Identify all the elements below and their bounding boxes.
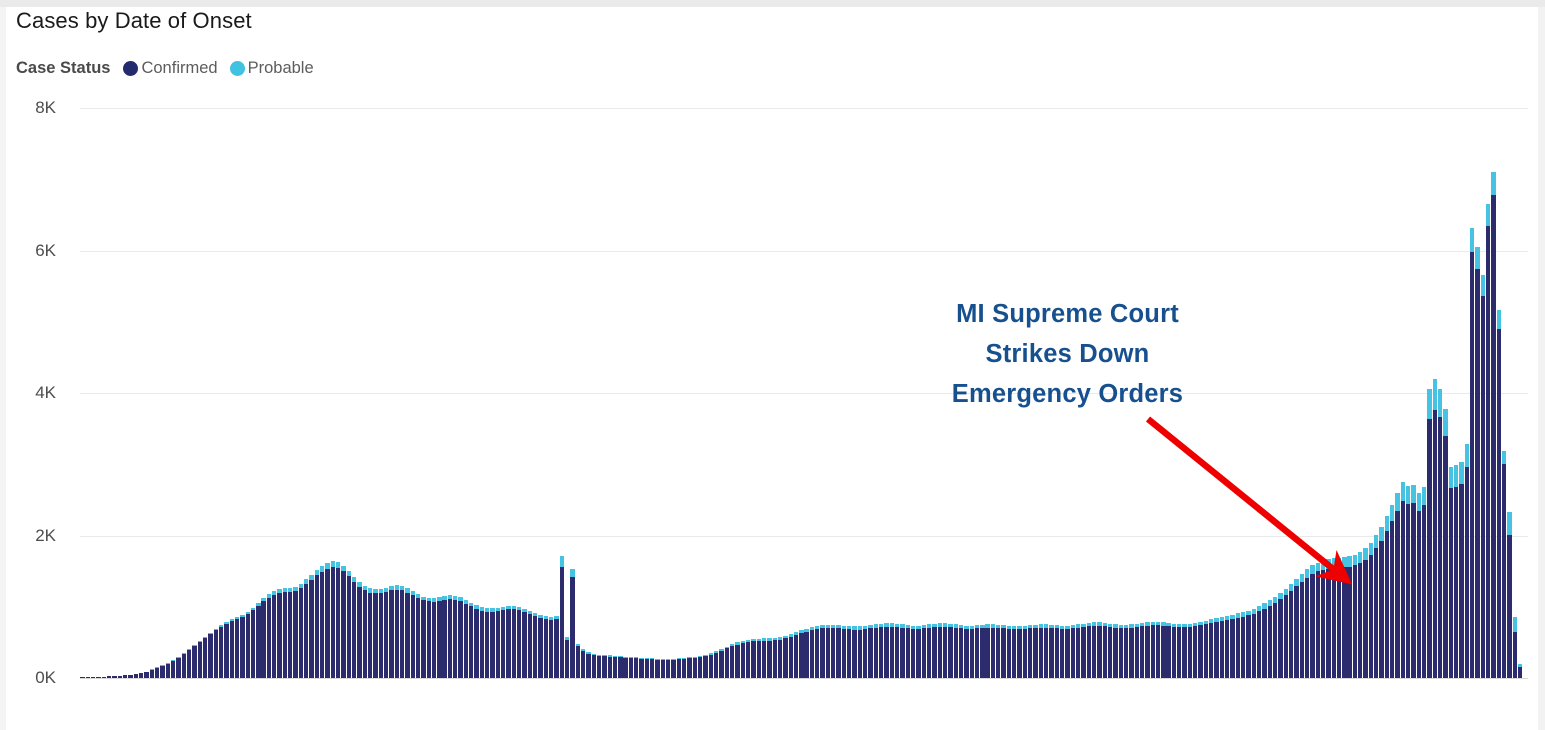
- bar[interactable]: [751, 639, 755, 678]
- bar-segment-probable: [767, 638, 771, 640]
- bar[interactable]: [639, 658, 643, 678]
- bar[interactable]: [1321, 560, 1325, 678]
- bar[interactable]: [1507, 512, 1511, 678]
- bar[interactable]: [251, 608, 255, 678]
- bar[interactable]: [1039, 624, 1043, 678]
- bar[interactable]: [741, 641, 745, 678]
- bar[interactable]: [1017, 626, 1021, 678]
- bar[interactable]: [1310, 565, 1314, 678]
- bar-segment-confirmed: [496, 611, 500, 678]
- bar[interactable]: [490, 608, 494, 678]
- bar[interactable]: [1342, 557, 1346, 678]
- bar[interactable]: [1007, 626, 1011, 678]
- bar[interactable]: [650, 658, 654, 678]
- bar[interactable]: [560, 556, 564, 678]
- bar[interactable]: [1257, 606, 1261, 678]
- bar[interactable]: [980, 625, 984, 678]
- bar[interactable]: [1012, 626, 1016, 678]
- bar[interactable]: [155, 668, 159, 678]
- bar[interactable]: [623, 657, 627, 678]
- bar[interactable]: [975, 625, 979, 678]
- bar[interactable]: [309, 575, 313, 678]
- bar[interactable]: [1481, 275, 1485, 678]
- bar[interactable]: [1459, 462, 1463, 678]
- bar[interactable]: [1417, 493, 1421, 678]
- bar[interactable]: [773, 638, 777, 678]
- bar[interactable]: [1156, 622, 1160, 678]
- bar[interactable]: [1214, 618, 1218, 678]
- bar[interactable]: [1278, 593, 1282, 678]
- bar[interactable]: [613, 656, 617, 678]
- bar[interactable]: [592, 654, 596, 678]
- bar[interactable]: [453, 596, 457, 678]
- bar[interactable]: [783, 636, 787, 678]
- bar[interactable]: [970, 626, 974, 679]
- bar[interactable]: [411, 591, 415, 678]
- bar[interactable]: [799, 630, 803, 678]
- bar[interactable]: [448, 595, 452, 678]
- bar[interactable]: [1119, 625, 1123, 678]
- bar[interactable]: [224, 622, 228, 678]
- bar[interactable]: [1097, 622, 1101, 678]
- bar[interactable]: [735, 642, 739, 678]
- bar[interactable]: [1353, 555, 1357, 678]
- bar[interactable]: [852, 626, 856, 678]
- bar-segment-confirmed: [1358, 563, 1362, 678]
- bar[interactable]: [1193, 623, 1197, 678]
- bar[interactable]: [198, 641, 202, 678]
- bar[interactable]: [256, 603, 260, 678]
- bar[interactable]: [112, 676, 116, 678]
- bar-segment-probable: [341, 566, 345, 571]
- bar[interactable]: [1363, 548, 1367, 678]
- bar[interactable]: [1443, 409, 1447, 678]
- bar[interactable]: [1140, 623, 1144, 678]
- bar[interactable]: [608, 655, 612, 678]
- bar[interactable]: [1332, 558, 1336, 678]
- bar[interactable]: [187, 649, 191, 678]
- bar[interactable]: [836, 625, 840, 678]
- bar[interactable]: [900, 624, 904, 678]
- bar[interactable]: [283, 588, 287, 678]
- bar[interactable]: [368, 588, 372, 678]
- bar[interactable]: [1113, 624, 1117, 678]
- bar[interactable]: [182, 653, 186, 678]
- bar[interactable]: [884, 623, 888, 678]
- bar[interactable]: [655, 659, 659, 678]
- y-axis-tick-label: 8K: [0, 98, 56, 118]
- bar-segment-probable: [432, 598, 436, 602]
- bar[interactable]: [1103, 623, 1107, 678]
- bar[interactable]: [1475, 247, 1479, 678]
- bar[interactable]: [1369, 543, 1373, 678]
- bar[interactable]: [565, 637, 569, 678]
- bar[interactable]: [1151, 622, 1155, 678]
- bar[interactable]: [757, 639, 761, 678]
- bar[interactable]: [932, 624, 936, 678]
- bar[interactable]: [1236, 613, 1240, 678]
- bar[interactable]: [570, 569, 574, 678]
- bar-segment-probable: [1182, 624, 1186, 627]
- bar[interactable]: [496, 608, 500, 678]
- bar[interactable]: [1033, 625, 1037, 678]
- bar[interactable]: [1230, 615, 1234, 678]
- bar[interactable]: [1049, 625, 1053, 678]
- bar[interactable]: [1411, 485, 1415, 679]
- bar[interactable]: [384, 588, 388, 678]
- bar[interactable]: [890, 623, 894, 678]
- bar[interactable]: [938, 623, 942, 678]
- bar[interactable]: [379, 589, 383, 678]
- bar[interactable]: [1161, 622, 1165, 678]
- bar[interactable]: [964, 626, 968, 679]
- bar[interactable]: [1172, 624, 1176, 678]
- bar[interactable]: [469, 603, 473, 678]
- bar[interactable]: [671, 659, 675, 678]
- bar[interactable]: [1087, 623, 1091, 678]
- bar[interactable]: [517, 607, 521, 678]
- bar[interactable]: [634, 657, 638, 678]
- bar[interactable]: [767, 638, 771, 678]
- bar[interactable]: [1092, 622, 1096, 678]
- bar[interactable]: [1044, 624, 1048, 678]
- bar[interactable]: [693, 656, 697, 678]
- bar[interactable]: [1273, 597, 1277, 678]
- bar[interactable]: [288, 588, 292, 678]
- bar[interactable]: [432, 598, 436, 678]
- bar[interactable]: [102, 677, 106, 678]
- bar[interactable]: [416, 594, 420, 678]
- bar[interactable]: [1023, 626, 1027, 679]
- bar[interactable]: [581, 649, 585, 678]
- bar[interactable]: [1135, 624, 1139, 678]
- bar[interactable]: [405, 588, 409, 678]
- bar[interactable]: [1374, 535, 1378, 678]
- bar-segment-probable: [847, 626, 851, 629]
- bar[interactable]: [128, 675, 132, 678]
- bar[interactable]: [602, 655, 606, 678]
- bar-segment-probable: [560, 556, 564, 567]
- bar[interactable]: [480, 607, 484, 678]
- bar-segment-confirmed: [517, 610, 521, 678]
- bar[interactable]: [315, 570, 319, 678]
- bar[interactable]: [831, 625, 835, 678]
- bar[interactable]: [730, 644, 734, 678]
- bar-segment-probable: [171, 660, 175, 661]
- bar[interactable]: [1129, 624, 1133, 678]
- bar[interactable]: [325, 563, 329, 678]
- bar[interactable]: [1209, 619, 1213, 678]
- bar[interactable]: [533, 613, 537, 678]
- bar[interactable]: [357, 582, 361, 678]
- bar[interactable]: [943, 623, 947, 678]
- bar[interactable]: [789, 634, 793, 678]
- bar[interactable]: [1108, 624, 1112, 678]
- bar[interactable]: [810, 627, 814, 678]
- bar[interactable]: [1262, 603, 1266, 678]
- bar[interactable]: [320, 566, 324, 678]
- bar[interactable]: [868, 625, 872, 678]
- bar-segment-probable: [1363, 548, 1367, 559]
- bar-segment-probable: [214, 629, 218, 631]
- bar[interactable]: [1241, 612, 1245, 678]
- bar[interactable]: [911, 626, 915, 679]
- bar[interactable]: [1246, 611, 1250, 678]
- bar[interactable]: [1284, 589, 1288, 678]
- bar[interactable]: [1060, 626, 1064, 678]
- bar[interactable]: [677, 658, 681, 678]
- bar[interactable]: [293, 587, 297, 678]
- bar[interactable]: [991, 624, 995, 678]
- bar[interactable]: [363, 586, 367, 678]
- bar[interactable]: [166, 663, 170, 678]
- bar[interactable]: [107, 676, 111, 678]
- bar[interactable]: [618, 656, 622, 678]
- bar[interactable]: [996, 625, 1000, 678]
- bar[interactable]: [123, 675, 127, 678]
- bar[interactable]: [645, 658, 649, 678]
- bar[interactable]: [1518, 664, 1522, 678]
- bar[interactable]: [1385, 516, 1389, 678]
- bar[interactable]: [1497, 310, 1501, 678]
- bar-segment-confirmed: [980, 628, 984, 678]
- bar[interactable]: [1220, 617, 1224, 678]
- bar[interactable]: [1337, 558, 1341, 678]
- bar[interactable]: [352, 577, 356, 678]
- bar[interactable]: [804, 629, 808, 678]
- bar[interactable]: [96, 677, 100, 678]
- bar[interactable]: [1188, 624, 1192, 678]
- bar[interactable]: [576, 644, 580, 678]
- bar[interactable]: [794, 632, 798, 678]
- bar[interactable]: [1300, 574, 1304, 678]
- bar[interactable]: [1513, 617, 1517, 678]
- bar[interactable]: [1289, 584, 1293, 678]
- bar[interactable]: [1305, 569, 1309, 678]
- bar[interactable]: [1470, 228, 1474, 678]
- bar[interactable]: [895, 624, 899, 678]
- bar-segment-probable: [618, 656, 622, 657]
- bar[interactable]: [134, 674, 138, 678]
- bar-segment-confirmed: [1108, 627, 1112, 678]
- bar-segment-confirmed: [613, 657, 617, 678]
- bar-segment-confirmed: [991, 628, 995, 678]
- bar[interactable]: [299, 584, 303, 678]
- bar[interactable]: [219, 625, 223, 678]
- bar[interactable]: [176, 657, 180, 678]
- bar[interactable]: [1145, 622, 1149, 678]
- bar[interactable]: [246, 612, 250, 678]
- bar[interactable]: [240, 615, 244, 678]
- bar[interactable]: [661, 659, 665, 678]
- bar-segment-confirmed: [554, 619, 558, 678]
- bar[interactable]: [709, 653, 713, 678]
- bar-segment-probable: [613, 656, 617, 657]
- bar[interactable]: [1268, 600, 1272, 678]
- bar[interactable]: [400, 586, 404, 678]
- bar[interactable]: [1065, 626, 1069, 678]
- bar[interactable]: [427, 598, 431, 678]
- bar[interactable]: [91, 677, 95, 678]
- bar[interactable]: [874, 624, 878, 678]
- bar[interactable]: [1438, 389, 1442, 678]
- bar-segment-confirmed: [1225, 620, 1229, 678]
- bar[interactable]: [331, 561, 335, 678]
- bar[interactable]: [1028, 625, 1032, 678]
- bar[interactable]: [336, 562, 340, 678]
- bar[interactable]: [1198, 622, 1202, 678]
- bar[interactable]: [1454, 465, 1458, 678]
- bar[interactable]: [1204, 621, 1208, 678]
- bar[interactable]: [1427, 389, 1431, 678]
- bar[interactable]: [682, 658, 686, 678]
- bar[interactable]: [528, 611, 532, 678]
- bar[interactable]: [442, 596, 446, 678]
- bar[interactable]: [549, 617, 553, 678]
- bar[interactable]: [1449, 467, 1453, 678]
- bar[interactable]: [1326, 559, 1330, 678]
- bar[interactable]: [544, 616, 548, 678]
- bar-segment-confirmed: [187, 650, 191, 678]
- bar[interactable]: [501, 607, 505, 678]
- bar[interactable]: [1225, 616, 1229, 678]
- bar[interactable]: [927, 624, 931, 678]
- bar[interactable]: [1502, 451, 1506, 678]
- bar[interactable]: [948, 624, 952, 678]
- bar[interactable]: [703, 655, 707, 678]
- bar[interactable]: [421, 597, 425, 679]
- bar[interactable]: [458, 597, 462, 678]
- bar[interactable]: [538, 615, 542, 678]
- bar[interactable]: [118, 676, 122, 678]
- bar[interactable]: [954, 624, 958, 678]
- bar[interactable]: [277, 589, 281, 678]
- bar[interactable]: [86, 677, 90, 678]
- bar[interactable]: [1395, 493, 1399, 678]
- bar[interactable]: [1401, 482, 1405, 678]
- bar[interactable]: [347, 571, 351, 678]
- bar[interactable]: [554, 616, 558, 678]
- bar[interactable]: [341, 566, 345, 678]
- bar[interactable]: [863, 626, 867, 678]
- bar[interactable]: [687, 657, 691, 678]
- bar[interactable]: [214, 629, 218, 678]
- bar[interactable]: [171, 660, 175, 678]
- bar[interactable]: [826, 625, 830, 678]
- bar[interactable]: [203, 637, 207, 678]
- bar[interactable]: [522, 609, 526, 678]
- bar-segment-probable: [1198, 622, 1202, 626]
- bar[interactable]: [235, 617, 239, 678]
- bar[interactable]: [820, 625, 824, 678]
- bar[interactable]: [762, 638, 766, 678]
- bar[interactable]: [1465, 444, 1469, 678]
- bar[interactable]: [719, 649, 723, 678]
- bar[interactable]: [815, 626, 819, 678]
- bar[interactable]: [1294, 579, 1298, 678]
- bar[interactable]: [304, 579, 308, 678]
- bar[interactable]: [1001, 625, 1005, 678]
- bar[interactable]: [267, 594, 271, 678]
- bar[interactable]: [144, 672, 148, 678]
- bar[interactable]: [847, 626, 851, 678]
- bar[interactable]: [1081, 624, 1085, 678]
- bar[interactable]: [778, 637, 782, 678]
- bar[interactable]: [629, 657, 633, 678]
- bar[interactable]: [464, 600, 468, 678]
- bar[interactable]: [906, 625, 910, 678]
- bar-segment-confirmed: [1342, 567, 1346, 678]
- bar[interactable]: [725, 647, 729, 678]
- bar[interactable]: [1491, 172, 1495, 678]
- bar[interactable]: [916, 626, 920, 679]
- bar[interactable]: [1166, 623, 1170, 678]
- bar[interactable]: [208, 633, 212, 678]
- bar[interactable]: [959, 625, 963, 678]
- bar[interactable]: [1406, 486, 1410, 678]
- bar[interactable]: [842, 626, 846, 679]
- bar[interactable]: [698, 656, 702, 678]
- bar[interactable]: [1390, 505, 1394, 678]
- bar[interactable]: [437, 597, 441, 678]
- bar[interactable]: [485, 608, 489, 678]
- bar[interactable]: [1379, 527, 1383, 678]
- bar[interactable]: [506, 606, 510, 678]
- bar[interactable]: [1055, 625, 1059, 678]
- bar[interactable]: [150, 670, 154, 678]
- bar[interactable]: [1433, 379, 1437, 678]
- bar[interactable]: [1316, 563, 1320, 678]
- bar-segment-probable: [166, 663, 170, 664]
- bar[interactable]: [272, 591, 276, 678]
- bar[interactable]: [1422, 487, 1426, 678]
- bar[interactable]: [1252, 609, 1256, 678]
- bar[interactable]: [586, 652, 590, 678]
- bar[interactable]: [1182, 624, 1186, 678]
- bar[interactable]: [597, 655, 601, 678]
- bar[interactable]: [1358, 552, 1362, 678]
- bar[interactable]: [1486, 204, 1490, 678]
- bar[interactable]: [1071, 625, 1075, 678]
- bar[interactable]: [746, 640, 750, 678]
- bar[interactable]: [395, 585, 399, 678]
- bar[interactable]: [858, 626, 862, 678]
- bar[interactable]: [160, 666, 164, 678]
- bar-segment-probable: [395, 585, 399, 589]
- bar[interactable]: [261, 598, 265, 678]
- bar[interactable]: [192, 645, 196, 678]
- bar-segment-confirmed: [725, 648, 729, 678]
- bar-segment-probable: [1470, 228, 1474, 252]
- bar[interactable]: [373, 589, 377, 678]
- bar[interactable]: [879, 624, 883, 678]
- bar[interactable]: [389, 586, 393, 678]
- bar[interactable]: [80, 677, 84, 678]
- bar[interactable]: [922, 625, 926, 678]
- bar[interactable]: [1177, 624, 1181, 678]
- bar[interactable]: [714, 651, 718, 678]
- bar[interactable]: [1076, 624, 1080, 678]
- bar[interactable]: [985, 624, 989, 678]
- bar-segment-confirmed: [1374, 548, 1378, 678]
- bar[interactable]: [512, 606, 516, 678]
- bar[interactable]: [1124, 625, 1128, 678]
- bar[interactable]: [666, 659, 670, 678]
- bar[interactable]: [230, 619, 234, 678]
- bar[interactable]: [474, 605, 478, 678]
- bar[interactable]: [1347, 556, 1351, 678]
- bar[interactable]: [139, 673, 143, 678]
